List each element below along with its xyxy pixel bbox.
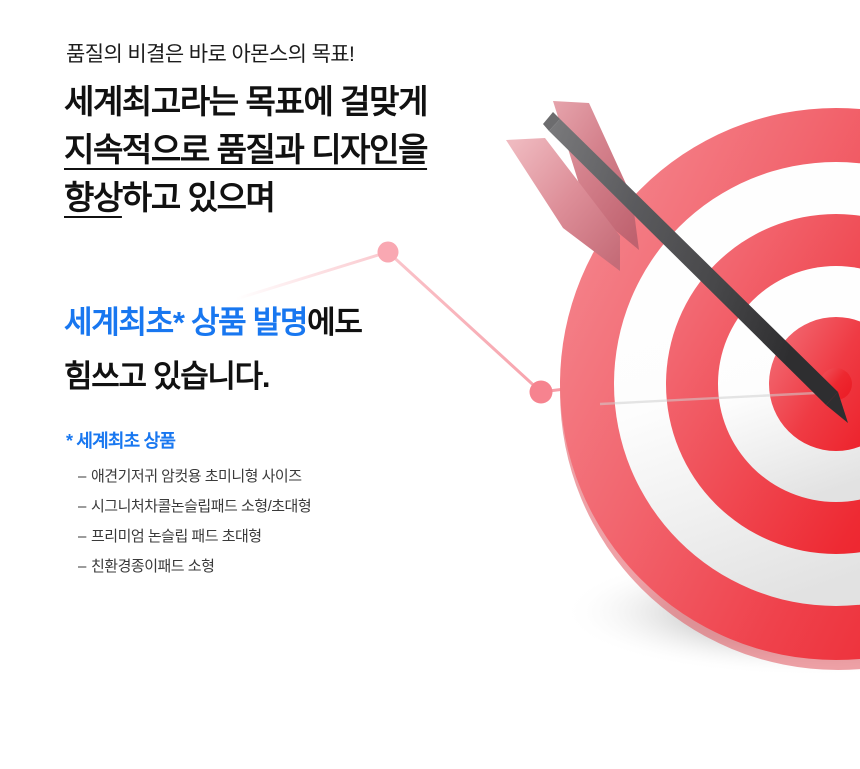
promo-banner: 품질의 비결은 바로 아몬스의 목표! 세계최고라는 목표에 걸맞게 지속적으로…: [0, 0, 860, 769]
headline-line-3: 향상하고 있으며: [64, 174, 534, 222]
footnote-block: * 세계최초 상품 –애견기저귀 암컷용 초미니형 사이즈 –시그니처차콜논슬립…: [66, 428, 466, 582]
headline-line-3-tail: 하고 있으며: [122, 179, 275, 216]
headline-line-3-underlined-part: 향상: [64, 179, 122, 216]
list-item: –프리미엄 논슬립 패드 초대형: [78, 522, 466, 552]
subhead-block: 세계최초* 상품 발명에도 힘쓰고 있습니다.: [64, 296, 534, 404]
headline-block: 세계최고라는 목표에 걸맞게 지속적으로 품질과 디자인을 향상하고 있으며: [64, 78, 534, 222]
list-item-label: 시그니처차콜논슬립패드 소형/초대형: [91, 498, 311, 515]
subhead-accent-text: 세계최초* 상품 발명: [64, 305, 307, 340]
list-dash: –: [78, 492, 91, 522]
list-dash: –: [78, 462, 91, 492]
arrow-fletch-upper: [553, 101, 639, 250]
target-ring-2: [614, 162, 860, 606]
arrow-tip: [826, 392, 848, 423]
headline-line-1: 세계최고라는 목표에 걸맞게: [64, 78, 534, 126]
target-shadow: [562, 548, 860, 676]
headline-line-2: 지속적으로 품질과 디자인을: [64, 126, 534, 174]
eyebrow-text: 품질의 비결은 바로 아몬스의 목표!: [66, 38, 354, 68]
target-ring-5: [769, 317, 860, 451]
target-ring-1: [560, 108, 860, 660]
footnote-list: –애견기저귀 암컷용 초미니형 사이즈 –시그니처차콜논슬립패드 소형/초대형 …: [66, 462, 466, 582]
list-item: –시그니처차콜논슬립패드 소형/초대형: [78, 492, 466, 522]
list-dash: –: [78, 552, 91, 582]
target-ring-3: [666, 214, 860, 554]
target-ring-4: [718, 266, 860, 502]
subhead-tail-text: 에도: [307, 305, 361, 340]
list-item: –애견기저귀 암컷용 초미니형 사이즈: [78, 462, 466, 492]
subhead-line-1: 세계최초* 상품 발명에도: [64, 296, 534, 350]
list-item-label: 프리미엄 논슬립 패드 초대형: [91, 528, 262, 545]
arrow-nock: [543, 112, 560, 131]
dartboard-target: [560, 108, 860, 670]
arrow-shaft: [549, 119, 838, 405]
copy-block: 품질의 비결은 바로 아몬스의 목표! 세계최고라는 목표에 걸맞게 지속적으로…: [0, 0, 540, 769]
footnote-title: * 세계최초 상품: [66, 428, 466, 454]
list-item-label: 애견기저귀 암컷용 초미니형 사이즈: [91, 468, 302, 485]
list-item: –친환경종이패드 소형: [78, 552, 466, 582]
subhead-line-2: 힘쓰고 있습니다.: [64, 350, 534, 404]
arrow-dart: [506, 101, 848, 423]
list-dash: –: [78, 522, 91, 552]
list-item-label: 친환경종이패드 소형: [91, 558, 214, 575]
target-center-guideline: [600, 392, 836, 404]
target-bullseye: [820, 368, 852, 400]
